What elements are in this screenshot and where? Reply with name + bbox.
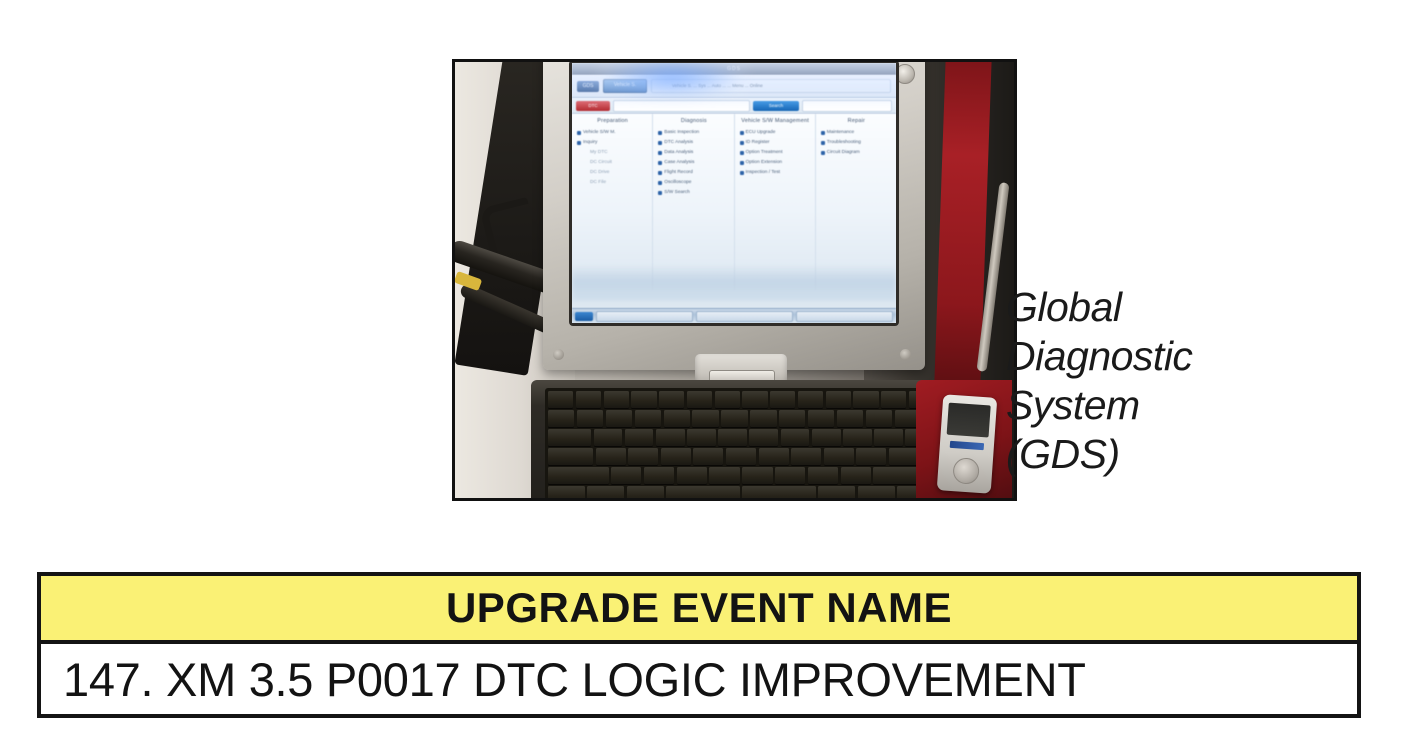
key[interactable] <box>577 410 603 427</box>
photo-caption: Global Diagnostic System (GDS) <box>1006 283 1306 479</box>
key[interactable] <box>677 467 707 484</box>
column-title: Preparation <box>577 118 648 124</box>
menu-item-label: DC Circuit <box>590 160 612 165</box>
key-space-right[interactable] <box>742 486 816 498</box>
key[interactable] <box>841 467 871 484</box>
menu-item[interactable]: DTC Analysis <box>658 140 729 145</box>
key-alt[interactable] <box>627 486 664 498</box>
bullet-icon <box>658 151 662 155</box>
key[interactable] <box>781 429 810 446</box>
laptop-lid: GDS GDS Vehicle S. Vehicle S. ... Sys ..… <box>543 62 925 370</box>
menu-item-label: Vehicle S/W M. <box>583 130 616 135</box>
key-arrow[interactable] <box>858 486 895 498</box>
menu-item[interactable]: DC Circuit <box>577 160 648 165</box>
menu-item-label: DTC Analysis <box>664 140 693 145</box>
key[interactable] <box>687 429 716 446</box>
bullet-icon <box>740 141 744 145</box>
key[interactable] <box>812 429 841 446</box>
key[interactable] <box>692 410 718 427</box>
menu-item[interactable]: Data Analysis <box>658 150 729 155</box>
search-input[interactable] <box>613 100 750 112</box>
menu-item[interactable]: Basic Inspection <box>658 130 729 135</box>
bullet-icon <box>821 131 825 135</box>
bullet-icon <box>740 151 744 155</box>
key-ctrl[interactable] <box>548 486 585 498</box>
key[interactable] <box>837 410 863 427</box>
menu-item[interactable]: DC Drive <box>577 170 648 175</box>
key-tab[interactable] <box>548 429 591 446</box>
key[interactable] <box>881 391 906 408</box>
key[interactable] <box>604 391 629 408</box>
key[interactable] <box>596 448 626 465</box>
vci-display <box>947 403 991 438</box>
key[interactable] <box>843 429 872 446</box>
table-row-label: 147. XM 3.5 P0017 DTC LOGIC IMPROVEMENT <box>63 656 1086 703</box>
gds-column-preparation: Preparation Vehicle S/W M. Inquiry My DT… <box>572 114 653 290</box>
key-fn[interactable] <box>587 486 624 498</box>
key[interactable] <box>798 391 823 408</box>
caption-line-2: Diagnostic <box>1006 332 1306 381</box>
menu-item-label: Troubleshooting <box>827 140 861 145</box>
menu-item-label: Flight Record <box>664 170 693 175</box>
caption-line-4: (GDS) <box>1006 430 1306 479</box>
bullet-icon <box>658 171 662 175</box>
bullet-icon <box>658 131 662 135</box>
key[interactable] <box>742 391 767 408</box>
key[interactable] <box>693 448 723 465</box>
gds-background-image <box>572 265 896 301</box>
key[interactable] <box>715 391 740 408</box>
key[interactable] <box>824 448 854 465</box>
key[interactable] <box>687 391 712 408</box>
bullet-icon <box>658 141 662 145</box>
caption-line-1: Global <box>1006 283 1306 332</box>
key[interactable] <box>548 410 574 427</box>
keyboard-row <box>548 448 934 465</box>
key[interactable] <box>853 391 878 408</box>
key[interactable] <box>770 391 795 408</box>
menu-item[interactable]: Oscilloscope <box>658 180 729 185</box>
menu-item[interactable]: DC File <box>577 180 648 185</box>
key[interactable] <box>726 448 756 465</box>
gds-column-vehicle-sw-management: Vehicle S/W Management ECU Upgrade ID Re… <box>735 114 816 290</box>
keyboard-row <box>548 486 934 498</box>
menu-item[interactable]: My DTC <box>577 150 648 155</box>
gds-laptop-photo: GDS GDS Vehicle S. Vehicle S. ... Sys ..… <box>452 59 1017 501</box>
keyboard-row <box>548 429 934 446</box>
key[interactable] <box>874 429 903 446</box>
gds-column-repair: Repair Maintenance Troubleshooting Circu… <box>816 114 896 290</box>
key[interactable] <box>606 410 632 427</box>
laptop-base <box>531 380 951 498</box>
key-alt-right[interactable] <box>818 486 855 498</box>
windows-taskbar[interactable] <box>572 308 896 323</box>
menu-item[interactable]: Case Analysis <box>658 160 729 165</box>
menu-item[interactable]: Circuit Diagram <box>821 150 892 155</box>
gds-toolbar: GDS Vehicle S. Vehicle S. ... Sys ... Au… <box>572 75 896 98</box>
menu-item-label: S/W Search <box>664 190 690 195</box>
menu-item-label: Option Treatment <box>746 150 783 155</box>
column-title: Vehicle S/W Management <box>740 118 811 124</box>
laptop-keyboard[interactable] <box>545 388 937 498</box>
key[interactable] <box>548 391 573 408</box>
key-space[interactable] <box>666 486 740 498</box>
bullet-icon <box>658 181 662 185</box>
upgrade-event-table: UPGRADE EVENT NAME 147. XM 3.5 P0017 DTC… <box>37 572 1361 718</box>
key[interactable] <box>576 391 601 408</box>
menu-item-label: Circuit Diagram <box>827 150 860 155</box>
table-header-row: UPGRADE EVENT NAME <box>41 576 1357 644</box>
vci-dial-icon[interactable] <box>952 457 980 485</box>
column-title: Repair <box>821 118 892 124</box>
gds-column-diagnosis: Diagnosis Basic Inspection DTC Analysis … <box>653 114 734 290</box>
vehicle-select-button[interactable]: Vehicle S. <box>603 79 647 93</box>
gds-menu-columns: Preparation Vehicle S/W M. Inquiry My DT… <box>572 114 896 290</box>
key[interactable] <box>664 410 690 427</box>
menu-item-label: My DTC <box>590 150 608 155</box>
bullet-icon <box>658 161 662 165</box>
key[interactable] <box>644 467 674 484</box>
menu-item[interactable]: Option Treatment <box>740 150 811 155</box>
key[interactable] <box>742 467 772 484</box>
gds-search-bar: DTC Search <box>572 98 896 114</box>
bullet-icon <box>584 161 588 165</box>
key[interactable] <box>635 410 661 427</box>
keyboard-row <box>548 467 934 484</box>
bullet-icon <box>740 161 744 165</box>
bullet-icon <box>584 171 588 175</box>
key[interactable] <box>791 448 821 465</box>
menu-item-label: Oscilloscope <box>664 180 691 185</box>
lid-screw-right-icon <box>900 349 911 360</box>
bullet-icon <box>740 131 744 135</box>
menu-item-label: Case Analysis <box>664 160 694 165</box>
key[interactable] <box>759 448 789 465</box>
bullet-icon <box>577 141 581 145</box>
menu-item-label: Data Analysis <box>664 150 693 155</box>
key[interactable] <box>750 410 776 427</box>
table-header-label: UPGRADE EVENT NAME <box>446 587 952 629</box>
key[interactable] <box>808 410 834 427</box>
key[interactable] <box>628 448 658 465</box>
key[interactable] <box>808 467 838 484</box>
bullet-icon <box>658 191 662 195</box>
bullet-icon <box>821 141 825 145</box>
menu-item-label: Inquiry <box>583 140 597 145</box>
menu-item[interactable]: S/W Search <box>658 190 729 195</box>
menu-item-label: Inspection / Test <box>746 170 781 175</box>
key[interactable] <box>718 429 747 446</box>
menu-item-label: Basic Inspection <box>664 130 699 135</box>
bullet-icon <box>584 181 588 185</box>
bullet-icon <box>740 171 744 175</box>
breadcrumb: Vehicle S. ... Sys ... Auto ... ... Menu… <box>651 79 891 93</box>
key[interactable] <box>659 391 684 408</box>
taskbar-item[interactable] <box>796 311 893 322</box>
menu-item[interactable]: Inquiry <box>577 140 648 145</box>
vci-brand-label <box>950 441 984 450</box>
gds-logo-icon: GDS <box>577 81 599 92</box>
column-title: Diagnosis <box>658 118 729 124</box>
key[interactable] <box>749 429 778 446</box>
key[interactable] <box>775 467 805 484</box>
key[interactable] <box>779 410 805 427</box>
key-capslock[interactable] <box>548 448 593 465</box>
menu-item-label: ECU Upgrade <box>746 130 776 135</box>
table-row: 147. XM 3.5 P0017 DTC LOGIC IMPROVEMENT <box>41 644 1357 714</box>
bullet-icon <box>584 151 588 155</box>
key[interactable] <box>721 410 747 427</box>
key[interactable] <box>661 448 691 465</box>
vci-module[interactable] <box>937 394 998 494</box>
keyboard-row <box>548 410 934 427</box>
key[interactable] <box>856 448 886 465</box>
menu-item[interactable]: ID Register <box>740 140 811 145</box>
gds-application-screen[interactable]: GDS GDS Vehicle S. Vehicle S. ... Sys ..… <box>572 63 896 323</box>
gds-title-bar: GDS <box>572 63 896 75</box>
bullet-icon <box>821 151 825 155</box>
menu-item-label: Maintenance <box>827 130 854 135</box>
key[interactable] <box>709 467 739 484</box>
key[interactable] <box>656 429 685 446</box>
laptop-screen-bezel: GDS GDS Vehicle S. Vehicle S. ... Sys ..… <box>569 62 899 326</box>
bullet-icon <box>577 131 581 135</box>
search-button[interactable]: Search <box>753 101 799 111</box>
menu-item-label: ID Register <box>746 140 770 145</box>
caption-line-3: System <box>1006 381 1306 430</box>
keyboard-row <box>548 391 934 408</box>
photo-content: GDS GDS Vehicle S. Vehicle S. ... Sys ..… <box>455 62 1014 498</box>
key[interactable] <box>611 467 641 484</box>
start-button-icon[interactable] <box>575 312 593 321</box>
menu-item[interactable]: Option Extension <box>740 160 811 165</box>
menu-item[interactable]: Vehicle S/W M. <box>577 130 648 135</box>
menu-item[interactable]: Troubleshooting <box>821 140 892 145</box>
key[interactable] <box>625 429 654 446</box>
vci-red-case <box>916 380 1012 498</box>
key[interactable] <box>631 391 656 408</box>
menu-item-label: Option Extension <box>746 160 783 165</box>
taskbar-item[interactable] <box>696 311 793 322</box>
menu-item[interactable]: Flight Record <box>658 170 729 175</box>
key-shift-left[interactable] <box>548 467 609 484</box>
menu-item[interactable]: Maintenance <box>821 130 892 135</box>
lid-screw-left-icon <box>553 349 564 360</box>
key[interactable] <box>594 429 623 446</box>
menu-item-label: DC File <box>590 180 606 185</box>
key[interactable] <box>866 410 892 427</box>
key[interactable] <box>826 391 851 408</box>
menu-item[interactable]: ECU Upgrade <box>740 130 811 135</box>
search-secondary-input[interactable] <box>802 100 892 112</box>
menu-item-label: DC Drive <box>590 170 609 175</box>
dtc-chip[interactable]: DTC <box>576 101 610 111</box>
menu-item[interactable]: Inspection / Test <box>740 170 811 175</box>
taskbar-item[interactable] <box>596 311 693 322</box>
